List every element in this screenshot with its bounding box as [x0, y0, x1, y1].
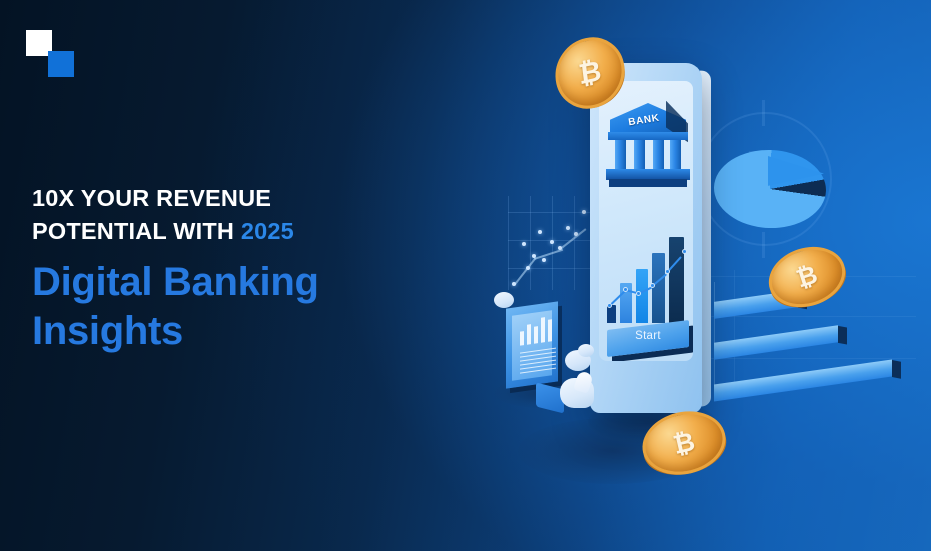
logo-square-blue	[48, 51, 74, 77]
scatter-plot	[508, 196, 594, 290]
title-line-2: Insights	[32, 309, 183, 353]
bitcoin-icon: ₿	[577, 57, 603, 90]
bank-column	[634, 140, 645, 170]
hbar-3	[714, 359, 892, 401]
start-button-label: Start	[607, 330, 689, 342]
fintech-illustration: Ƀ	[470, 0, 931, 551]
bitcoin-icon: ₿	[671, 428, 698, 458]
brand-logo[interactable]	[26, 30, 78, 76]
start-button[interactable]: Start	[607, 320, 689, 357]
hbar-2	[714, 325, 838, 359]
kicker-line-1: 10X YOUR REVENUE	[32, 185, 271, 211]
phone-bar-chart	[605, 231, 691, 323]
page-title: Digital Banking Insights	[32, 258, 462, 356]
bank-column	[615, 140, 626, 170]
report-inner	[512, 310, 552, 381]
bank-column	[653, 140, 664, 170]
title-line-1: Digital Banking	[32, 260, 319, 304]
kicker-line-2: POTENTIAL WITH	[32, 218, 234, 244]
chart-bar	[652, 253, 665, 323]
bitcoin-icon: ₿	[793, 262, 820, 292]
bank-base-shadow	[609, 179, 687, 187]
cloud-puff	[578, 344, 594, 357]
cloud-puff	[494, 292, 514, 308]
promo-banner: 10X YOUR REVENUE POTENTIAL WITH 2025 Dig…	[0, 0, 931, 551]
headline-kicker: 10X YOUR REVENUE POTENTIAL WITH 2025	[32, 182, 462, 249]
pie-chart	[714, 150, 826, 228]
smartphone-mockup: BANK	[590, 63, 702, 413]
bank-building-icon: BANK	[606, 103, 690, 187]
coin-face: ₿	[551, 31, 628, 115]
report-card	[506, 305, 558, 385]
bank-column	[670, 140, 681, 170]
phone-screen: BANK	[599, 81, 693, 361]
chart-bar	[636, 269, 648, 323]
bitcoin-coin-top: ₿	[551, 31, 628, 115]
kicker-year: 2025	[241, 218, 294, 244]
bank-lintel	[608, 132, 688, 140]
hand-cursor-icon	[552, 372, 600, 412]
headline-block: 10X YOUR REVENUE POTENTIAL WITH 2025 Dig…	[32, 182, 462, 355]
